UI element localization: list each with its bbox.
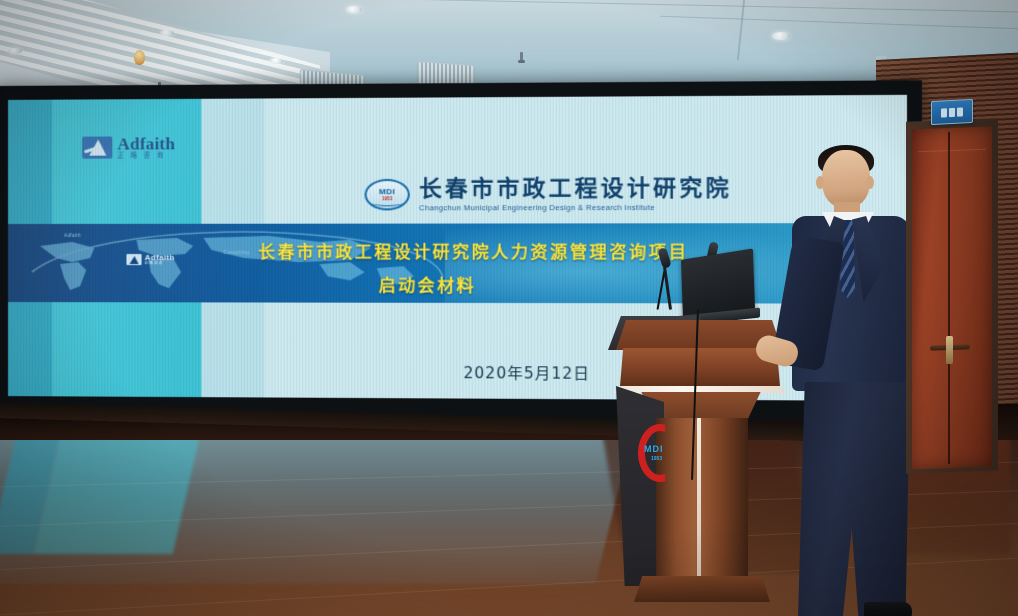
adfaith-name: Adfaith [117,135,175,152]
presenter-legs [798,382,910,616]
sign-glyph [957,107,963,116]
banner-logo-text: Adfaith 正略咨询 [145,254,175,266]
institute-name-cn: 长春市市政工程设计研究院 [419,176,732,203]
ceiling-seam [300,0,1018,13]
ceiling-seam [737,0,745,60]
door-seam [948,132,950,464]
podium-base [634,576,770,602]
sign-glyph [941,108,947,117]
presenter-shoe [864,602,912,616]
institute-header: MDI 1953 长春市市政工程设计研究院 Changchun Municipa… [365,176,732,213]
mdi-logo-year: 1953 [382,197,392,202]
map-label-left: Adfaith [64,233,81,238]
sign-glyph [949,107,955,116]
presenter-head [822,150,870,208]
presenter-ear [866,176,874,189]
map-label-right: Consulting [224,250,250,255]
presenter [760,150,920,616]
slide-date: 2020年5月12日 [463,362,590,384]
ceiling-light [8,48,22,54]
podium-emblem: MDI 1953 [638,418,682,488]
banner-adfaith-logo: Adfaith 正略咨询 [126,254,174,266]
presenter-ear [816,176,824,189]
door-lock[interactable] [946,336,953,364]
blue-room-sign [931,99,973,125]
mdi-oval-logo-icon: MDI 1953 [365,179,410,211]
slide-title-line2: 启动会材料 [258,272,598,297]
sprinkler-head [520,52,523,61]
ceiling-light [160,30,174,36]
podium-column-highlight [697,418,701,578]
adfaith-name-cn: 正 略 咨 询 [117,153,175,160]
ceiling-light [270,58,283,64]
conference-room-scene: Adfaith 正 略 咨 询 MDI 1953 长春市市政工程设计研究院 Ch… [0,0,1018,616]
banner-logo-subtext: 正略咨询 [145,262,175,266]
adfaith-triangle-logo-icon [126,254,141,265]
ceiling-seam [660,16,1018,30]
ceiling-lamp [134,50,145,65]
ceiling-light [772,32,790,40]
institute-name-en: Changchun Municipal Engineering Design &… [419,204,732,213]
mdi-logo-text: MDI [379,188,396,196]
adfaith-logo: Adfaith 正 略 咨 询 [82,135,175,160]
wooden-door[interactable] [912,126,992,469]
emblem-year: 1953 [651,456,662,462]
ceiling-light [346,6,362,13]
adfaith-triangle-logo-icon [82,137,112,159]
emblem-text: MDI [644,444,664,454]
